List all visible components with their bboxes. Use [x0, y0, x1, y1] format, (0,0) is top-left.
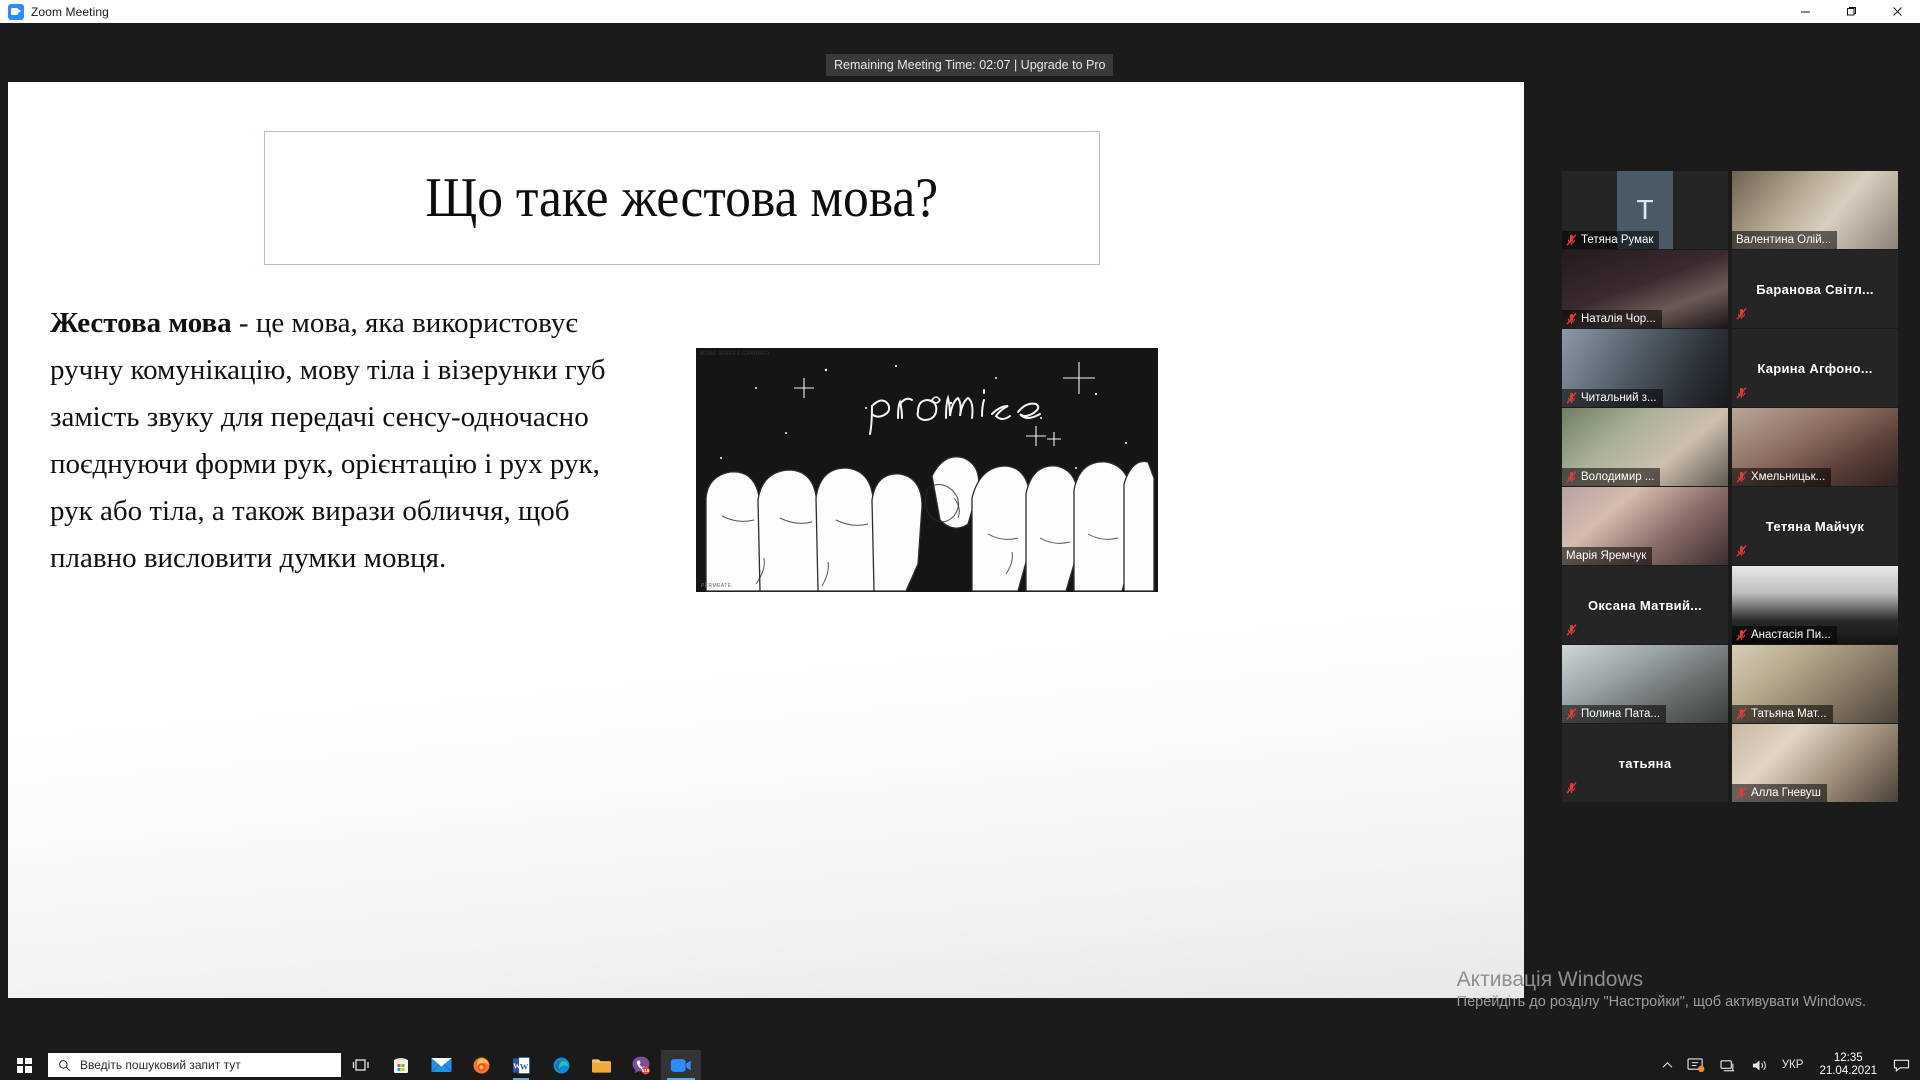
mute-icon: [1736, 708, 1747, 720]
action-center-icon[interactable]: [1887, 1050, 1916, 1080]
slide-body-text: Жестова мова - це мова, яка використовує…: [50, 300, 630, 582]
participant-tile[interactable]: Валентина Олій...: [1732, 171, 1898, 249]
mute-indicator: [1736, 544, 1747, 562]
participant-name-bar: Тетяна Румак: [1562, 231, 1659, 249]
tray-network-icon[interactable]: [1714, 1050, 1743, 1080]
participant-tile[interactable]: Наталія Чор...: [1562, 250, 1728, 328]
file-explorer-icon[interactable]: [581, 1050, 621, 1080]
window-title-bar: Zoom Meeting: [0, 0, 1920, 23]
windows-activation-watermark: Активація Windows Перейдіть до розділу "…: [1457, 968, 1866, 1010]
participant-name-bar: Читальний з...: [1562, 389, 1663, 407]
mute-icon: [1736, 308, 1747, 320]
search-icon: [58, 1059, 71, 1072]
mute-indicator: [1566, 781, 1577, 799]
participant-name: Полина Пата...: [1581, 706, 1660, 722]
mute-icon: [1566, 708, 1577, 720]
mute-icon: [1736, 387, 1747, 399]
participant-name: Анастасія Пи...: [1751, 627, 1831, 643]
taskbar-clock[interactable]: 12:35 21.04.2021: [1811, 1052, 1885, 1078]
participant-gallery[interactable]: TТетяна РумакВалентина Олій...Наталія Чо…: [1562, 171, 1906, 803]
taskbar-search-box[interactable]: Введіть пошуковий запит тут: [48, 1053, 341, 1077]
start-button[interactable]: [0, 1050, 48, 1080]
mute-icon: [1566, 782, 1577, 794]
participant-name-bar: Полина Пата...: [1562, 705, 1666, 723]
zoom-app-icon: [8, 4, 24, 20]
participant-name-bar: Наталія Чор...: [1562, 310, 1662, 328]
participant-name: Татьяна Мат...: [1751, 706, 1827, 722]
tray-expand-chevron[interactable]: [1656, 1050, 1679, 1080]
participant-tile[interactable]: Баранова Світл...: [1732, 250, 1898, 328]
zoom-taskbar-icon[interactable]: [661, 1050, 701, 1080]
mute-icon: [1566, 624, 1577, 636]
image-watermark-bottom: PERMEATE.: [701, 583, 733, 589]
tray-volume-icon[interactable]: [1745, 1050, 1774, 1080]
search-placeholder: Введіть пошуковий запит тут: [80, 1058, 241, 1072]
participant-tile[interactable]: Татьяна Мат...: [1732, 645, 1898, 723]
participant-name-bar: Марія Яремчук: [1562, 547, 1652, 565]
mute-icon: [1736, 787, 1747, 799]
participant-tile[interactable]: Анастасія Пи...: [1732, 566, 1898, 644]
participant-name: Марія Яремчук: [1566, 548, 1646, 564]
tray-display-icon[interactable]: [1681, 1050, 1712, 1080]
svg-text:515: 515: [642, 1068, 650, 1073]
participant-name-bar: Анастасія Пи...: [1732, 626, 1837, 644]
participant-name: Тетяна Румак: [1581, 232, 1653, 248]
mute-icon: [1566, 313, 1577, 325]
mute-indicator: [1736, 307, 1747, 325]
participant-name-bar: Алла Гневуш: [1732, 784, 1827, 802]
mute-icon: [1736, 471, 1747, 483]
participant-tile[interactable]: Полина Пата...: [1562, 645, 1728, 723]
participant-name: Карина Агфоно...: [1732, 329, 1898, 407]
zoom-meeting-window: Remaining Meeting Time: 02:07 | Upgrade …: [0, 23, 1920, 1050]
participant-name: Читальний з...: [1581, 390, 1657, 406]
task-view-icon[interactable]: [341, 1050, 381, 1080]
participant-name: Наталія Чор...: [1581, 311, 1656, 327]
participant-name: Баранова Світл...: [1732, 250, 1898, 328]
image-watermark-top: MORE IMAGES GRABBED: [700, 351, 769, 357]
participant-tile[interactable]: Володимир ...: [1562, 408, 1728, 486]
firefox-icon[interactable]: [461, 1050, 501, 1080]
windows-taskbar: Введіть пошуковий запит тут: [0, 1050, 1920, 1080]
participant-name-bar: Володимир ...: [1562, 468, 1660, 486]
mute-icon: [1566, 471, 1577, 483]
activation-title: Активація Windows: [1457, 968, 1866, 992]
participant-tile[interactable]: Алла Гневуш: [1732, 724, 1898, 802]
participant-name: Володимир ...: [1581, 469, 1654, 485]
mute-indicator: [1566, 623, 1577, 641]
participant-tile[interactable]: Хмельницьк...: [1732, 408, 1898, 486]
shared-screen-slide[interactable]: Що таке жестова мова? Жестова мова - це …: [8, 82, 1524, 998]
participant-name: Тетяна Майчук: [1732, 487, 1898, 565]
word-icon[interactable]: W W: [501, 1050, 541, 1080]
viber-icon[interactable]: 515: [621, 1050, 661, 1080]
remaining-meeting-time-banner[interactable]: Remaining Meeting Time: 02:07 | Upgrade …: [826, 54, 1113, 76]
participant-name: татьяна: [1562, 724, 1728, 802]
minimize-button[interactable]: [1782, 0, 1828, 23]
mute-icon: [1736, 629, 1747, 641]
mute-icon: [1566, 234, 1577, 246]
participant-name: Валентина Олій...: [1736, 232, 1831, 248]
slide-body-lead: Жестова мова: [50, 307, 232, 339]
svg-text:W: W: [512, 1061, 520, 1070]
windows-logo-icon: [17, 1058, 32, 1073]
participant-tile[interactable]: Тетяна Майчук: [1732, 487, 1898, 565]
microsoft-store-icon[interactable]: [381, 1050, 421, 1080]
participant-name: Алла Гневуш: [1751, 785, 1821, 801]
participant-tile[interactable]: Оксана Матвий...: [1562, 566, 1728, 644]
participant-tile[interactable]: TТетяна Румак: [1562, 171, 1728, 249]
activation-subtitle: Перейдіть до розділу "Настройки", щоб ак…: [1457, 994, 1866, 1010]
participant-name-bar: Татьяна Мат...: [1732, 705, 1833, 723]
clock-time: 12:35: [1819, 1052, 1877, 1065]
svg-text:W: W: [519, 1061, 528, 1071]
close-button[interactable]: [1874, 0, 1920, 23]
participant-tile[interactable]: татьяна: [1562, 724, 1728, 802]
slide-image-pinky-promise: MORE IMAGES GRABBED PERMEATE.: [696, 348, 1158, 592]
participant-tile[interactable]: Марія Яремчук: [1562, 487, 1728, 565]
slide-title: Що таке жестова мова?: [426, 166, 939, 230]
slide-body-rest: - це мова, яка використовує ручну комуні…: [50, 307, 606, 574]
participant-tile[interactable]: Карина Агфоно...: [1732, 329, 1898, 407]
window-title: Zoom Meeting: [31, 5, 109, 19]
clock-date: 21.04.2021: [1819, 1065, 1877, 1078]
mute-indicator: [1736, 386, 1747, 404]
participant-name: Оксана Матвий...: [1562, 566, 1728, 644]
edge-icon[interactable]: [541, 1050, 581, 1080]
mail-icon[interactable]: [421, 1050, 461, 1080]
slide-title-box: Що таке жестова мова?: [264, 131, 1100, 265]
tray-language-indicator[interactable]: УКР: [1776, 1050, 1810, 1080]
participant-name: Хмельницьк...: [1751, 469, 1825, 485]
mute-icon: [1566, 392, 1577, 404]
participant-tile[interactable]: Читальний з...: [1562, 329, 1728, 407]
participant-name-bar: Хмельницьк...: [1732, 468, 1831, 486]
mute-icon: [1736, 545, 1747, 557]
window-controls: [1782, 0, 1920, 23]
maximize-button[interactable]: [1828, 0, 1874, 23]
participant-name-bar: Валентина Олій...: [1732, 231, 1837, 249]
system-tray: УКР 12:35 21.04.2021: [1656, 1050, 1920, 1080]
